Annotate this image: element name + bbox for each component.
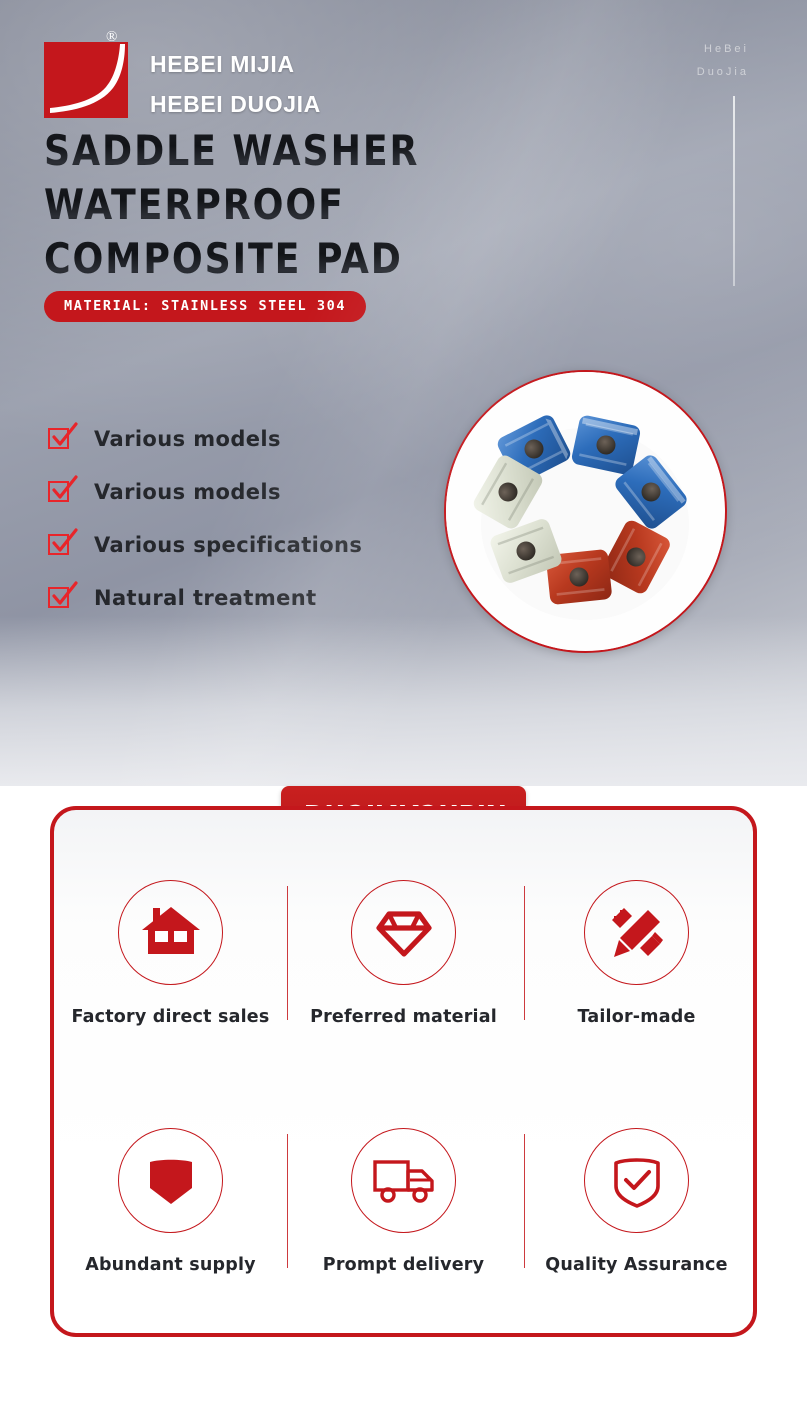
feature-label: Various specifications [94, 533, 362, 557]
watermark: HeBei DuoJia [697, 38, 749, 84]
checkbox-check-icon [48, 479, 74, 505]
brand-name-line-1: HEBEI MIJIA [150, 44, 321, 84]
list-item: Natural treatment [48, 571, 448, 624]
benefit-item-quality-assurance[interactable]: Quality Assurance [520, 1128, 753, 1328]
diamond-icon [351, 880, 456, 985]
benefits-grid: Factory direct sales Preferred material [54, 810, 753, 1333]
headline-line-2: WATERPROOF [44, 178, 562, 232]
brand-logo-block: ® HEBEI MIJIA HEBEI DUOJIA [44, 30, 321, 124]
material-badge: MATERIAL: STAINLESS STEEL 304 [44, 291, 366, 322]
benefit-label: Prompt delivery [323, 1255, 484, 1275]
list-item: Various models [48, 465, 448, 518]
benefit-label: Factory direct sales [72, 1007, 270, 1027]
hero-section: ® HEBEI MIJIA HEBEI DUOJIA HeBei DuoJia … [0, 0, 807, 786]
benefit-label: Preferred material [310, 1007, 497, 1027]
brand-name-line-2: HEBEI DUOJIA [150, 84, 321, 124]
logo-swoosh-icon [44, 42, 128, 118]
benefits-row-top: Factory direct sales Preferred material [54, 880, 753, 1080]
benefit-label: Tailor-made [577, 1007, 695, 1027]
page-title: SADDLE WASHER WATERPROOF COMPOSITE PAD [44, 124, 584, 286]
feature-checklist: Various models Various models Various sp… [48, 412, 448, 624]
list-item: Various specifications [48, 518, 448, 571]
watermark-vertical-rule [733, 96, 735, 286]
feature-label: Various models [94, 480, 281, 504]
feature-label: Natural treatment [94, 586, 317, 610]
checkbox-check-icon [48, 585, 74, 611]
benefit-label: Abundant supply [85, 1255, 256, 1275]
saddle-washer-product-photo [444, 370, 727, 653]
truck-icon [351, 1128, 456, 1233]
benefit-item-prompt-delivery[interactable]: Prompt delivery [287, 1128, 520, 1328]
company-logo-icon: ® [44, 30, 128, 118]
watermark-line-1: HeBei [697, 38, 749, 61]
checkbox-check-icon [48, 532, 74, 558]
registered-trademark-icon: ® [106, 30, 124, 48]
benefit-item-tailor-made[interactable]: Tailor-made [520, 880, 753, 1080]
watermark-line-2: DuoJia [697, 61, 749, 84]
shield-check-icon [584, 1128, 689, 1233]
feature-label: Various models [94, 427, 281, 451]
benefits-row-bottom: Abundant supply Prompt delivery [54, 1128, 753, 1328]
list-item: Various models [48, 412, 448, 465]
benefit-item-abundant-supply[interactable]: Abundant supply [54, 1128, 287, 1328]
shield-solid-icon [118, 1128, 223, 1233]
house-icon [118, 880, 223, 985]
benefit-label: Quality Assurance [545, 1255, 727, 1275]
headline-line-3: COMPOSITE PAD [44, 232, 562, 286]
benefit-item-factory-direct-sales[interactable]: Factory direct sales [54, 880, 287, 1080]
product-photo-illustration [446, 372, 724, 650]
checkbox-check-icon [48, 426, 74, 452]
benefit-item-preferred-material[interactable]: Preferred material [287, 880, 520, 1080]
benefits-card: Factory direct sales Preferred material [50, 806, 757, 1337]
headline-line-1: SADDLE WASHER [44, 124, 562, 178]
pencil-wrench-icon [584, 880, 689, 985]
